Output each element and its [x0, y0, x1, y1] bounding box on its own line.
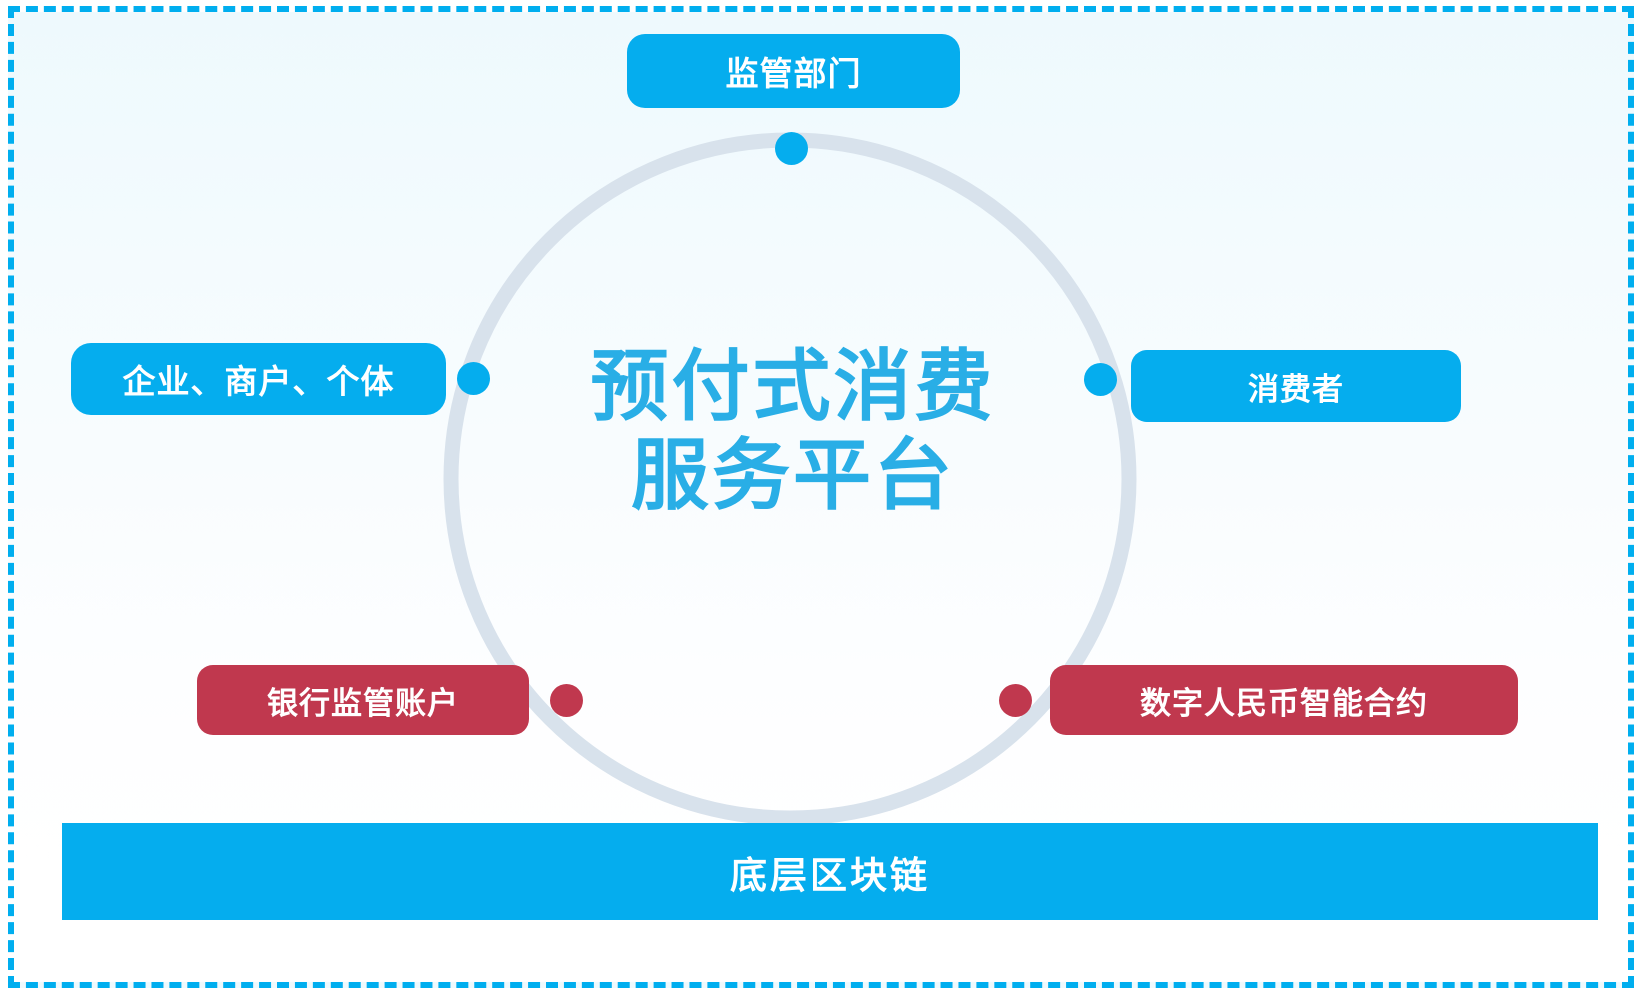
node-label-consumer[interactable]: 消费者: [1131, 350, 1461, 422]
foundation-bar[interactable]: 底层区块链: [62, 823, 1598, 920]
ring-node-smart-contract-dot: [999, 684, 1032, 717]
center-title-line-2: 服务平台: [523, 431, 1063, 520]
diagram-canvas: 监管部门 企业、商户、个体 消费者 银行监管账户 数字人民币智能合约 预付式消费…: [0, 0, 1646, 1000]
ring-node-enterprise-dot: [457, 362, 490, 395]
node-label-regulator[interactable]: 监管部门: [627, 34, 960, 108]
center-title: 预付式消费 服务平台: [523, 342, 1063, 520]
node-label-bank-account[interactable]: 银行监管账户: [197, 665, 529, 735]
ring-node-regulator-dot: [775, 132, 808, 165]
node-label-smart-contract[interactable]: 数字人民币智能合约: [1050, 665, 1518, 735]
node-label-enterprise[interactable]: 企业、商户、个体: [71, 343, 446, 415]
ring-node-consumer-dot: [1084, 363, 1117, 396]
center-title-line-1: 预付式消费: [523, 342, 1063, 431]
ring-node-bank-account-dot: [550, 684, 583, 717]
